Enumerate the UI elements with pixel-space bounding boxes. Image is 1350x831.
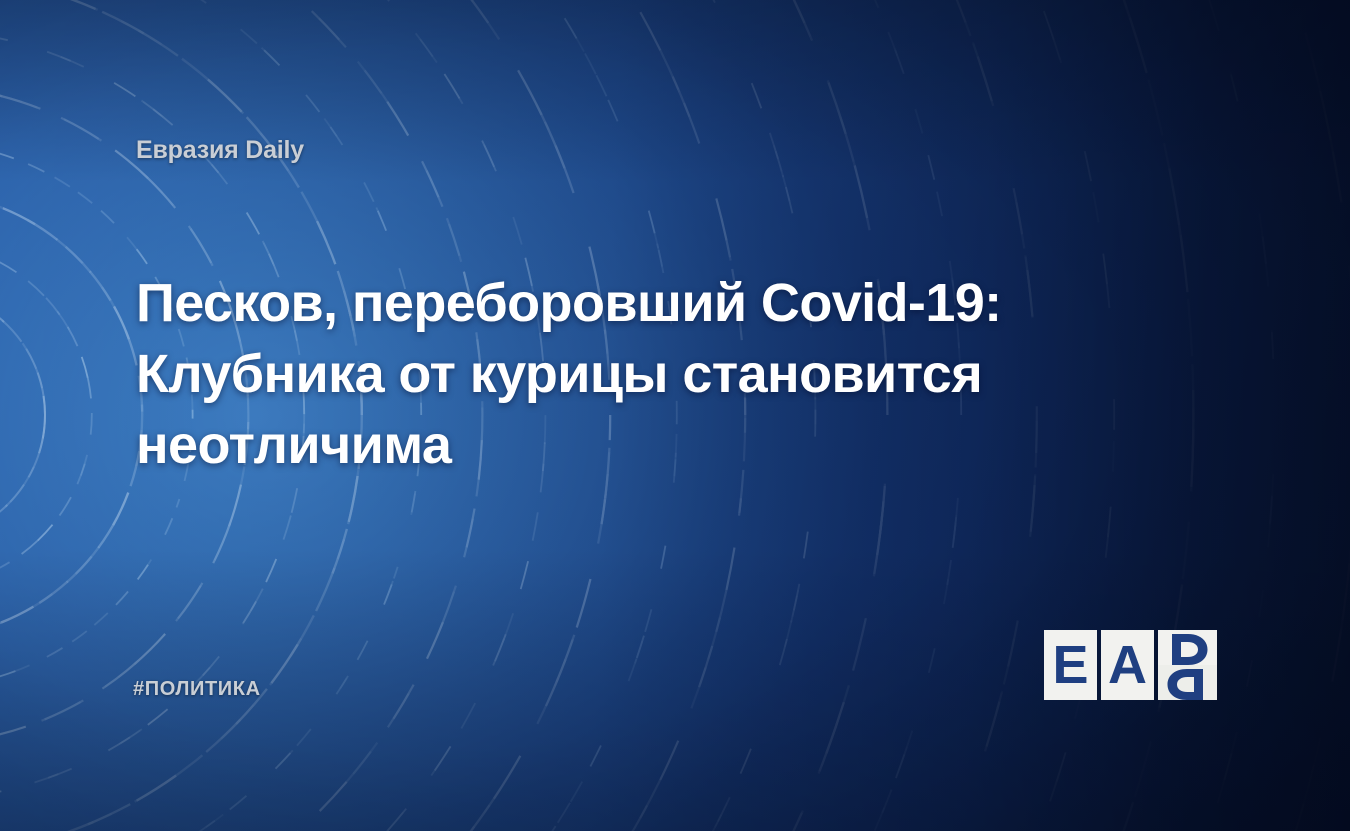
category-tag: #ПОЛИТИКА bbox=[133, 678, 261, 701]
logo-letter-e: E bbox=[1052, 638, 1088, 692]
logo-tile-d-bottom bbox=[1158, 665, 1217, 700]
brand-name: Евразия Daily bbox=[136, 136, 304, 165]
logo-d-rotated-icon bbox=[1158, 665, 1217, 700]
logo-letter-a: A bbox=[1108, 638, 1147, 692]
page-title: Песков, переборовший Covid-19: Клубника … bbox=[136, 268, 1056, 481]
eadaily-logo: E A bbox=[1044, 630, 1220, 700]
logo-d-icon bbox=[1158, 630, 1217, 665]
logo-tile-stack-d bbox=[1158, 630, 1217, 700]
logo-tile-d-top bbox=[1158, 630, 1217, 665]
logo-tile-e: E bbox=[1044, 630, 1097, 700]
logo-tile-a: A bbox=[1101, 630, 1154, 700]
news-card: Евразия Daily Песков, переборовший Covid… bbox=[0, 0, 1350, 831]
